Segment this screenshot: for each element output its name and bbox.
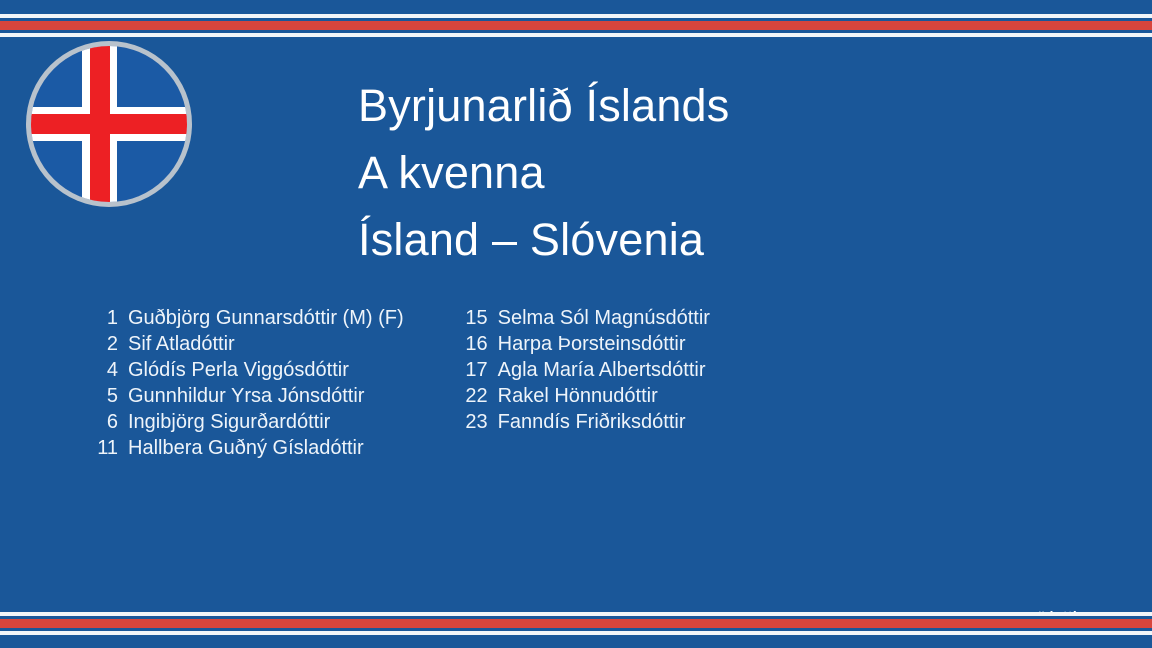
list-item: 4 Glódís Perla Viggósdóttir (92, 357, 404, 383)
list-item: 23 Fanndís Friðriksdóttir (462, 409, 710, 435)
player-number: 16 (462, 331, 488, 357)
list-item: 16 Harpa Þorsteinsdóttir (462, 331, 710, 357)
iceland-circular-flag-icon (26, 41, 192, 207)
flag-red-cross-horizontal (31, 114, 187, 134)
list-item: 5 Gunnhildur Yrsa Jónsdóttir (92, 383, 404, 409)
player-name: Harpa Þorsteinsdóttir (498, 331, 686, 357)
bottom-stripe-band (0, 612, 1152, 635)
title-line-2: A kvenna (358, 139, 729, 206)
list-item: 17 Agla María Albertsdóttir (462, 357, 710, 383)
player-name: Ingibjörg Sigurðardóttir (128, 409, 330, 435)
stripe-red (0, 21, 1152, 30)
player-number: 5 (92, 383, 118, 409)
title-line-3: Ísland – Slóvenia (358, 206, 729, 273)
stripe-white-lower (0, 33, 1152, 37)
player-name: Hallbera Guðný Gísladóttir (128, 435, 364, 461)
emblem-face (31, 46, 187, 202)
list-item: 15 Selma Sól Magnúsdóttir (462, 305, 710, 331)
player-number: 1 (92, 305, 118, 331)
player-number: 22 (462, 383, 488, 409)
stripe-red (0, 619, 1152, 628)
player-name: Agla María Albertsdóttir (498, 357, 706, 383)
player-number: 6 (92, 409, 118, 435)
player-number: 23 (462, 409, 488, 435)
title-line-1: Byrjunarlið Íslands (358, 72, 729, 139)
starting-lineup-roster: 1 Guðbjörg Gunnarsdóttir (M) (F) 2 Sif A… (92, 305, 710, 461)
list-item: 11 Hallbera Guðný Gísladóttir (92, 435, 404, 461)
list-item: 22 Rakel Hönnudóttir (462, 383, 710, 409)
stripe-white-lower (0, 631, 1152, 635)
list-item: 1 Guðbjörg Gunnarsdóttir (M) (F) (92, 305, 404, 331)
list-item: 6 Ingibjörg Sigurðardóttir (92, 409, 404, 435)
roster-column-right: 15 Selma Sól Magnúsdóttir 16 Harpa Þorst… (462, 305, 710, 461)
top-stripe-band (0, 14, 1152, 37)
list-item: 2 Sif Atladóttir (92, 331, 404, 357)
player-name: Gunnhildur Yrsa Jónsdóttir (128, 383, 364, 409)
player-number: 2 (92, 331, 118, 357)
player-number: 4 (92, 357, 118, 383)
player-number: 11 (92, 435, 118, 461)
player-number: 15 (462, 305, 488, 331)
player-name: Glódís Perla Viggósdóttir (128, 357, 349, 383)
slide-canvas: Byrjunarlið Íslands A kvenna Ísland – Sl… (0, 0, 1152, 648)
roster-column-left: 1 Guðbjörg Gunnarsdóttir (M) (F) 2 Sif A… (92, 305, 404, 461)
player-name: Rakel Hönnudóttir (498, 383, 658, 409)
player-name: Guðbjörg Gunnarsdóttir (M) (F) (128, 305, 404, 331)
player-number: 17 (462, 357, 488, 383)
player-name: Selma Sól Magnúsdóttir (498, 305, 710, 331)
page-title: Byrjunarlið Íslands A kvenna Ísland – Sl… (358, 72, 729, 273)
player-name: Sif Atladóttir (128, 331, 235, 357)
player-name: Fanndís Friðriksdóttir (498, 409, 686, 435)
